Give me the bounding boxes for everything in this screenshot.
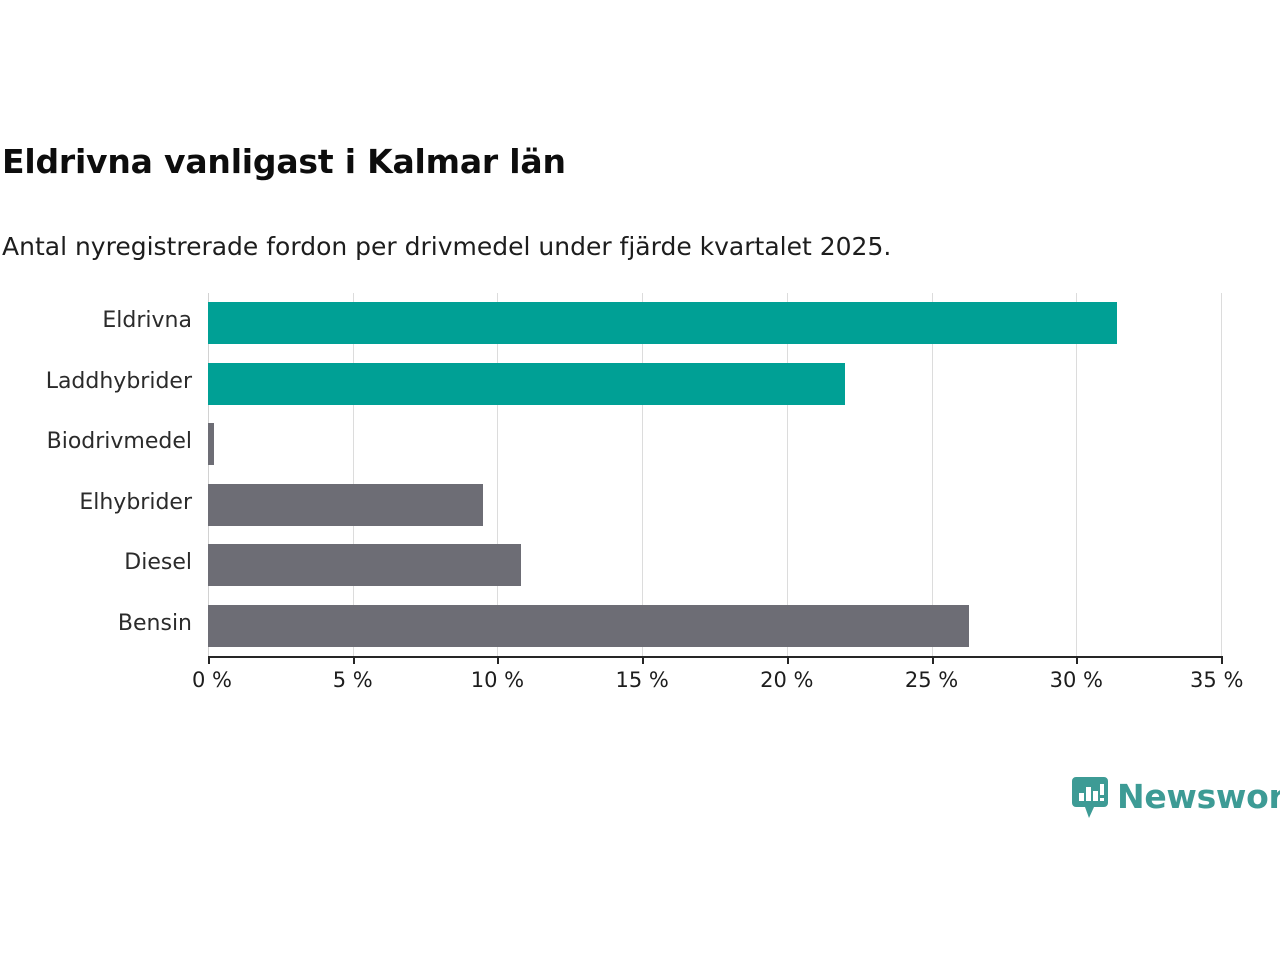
- x-tick-label-35: 35 %: [1190, 668, 1243, 692]
- bar-diesel[interactable]: [208, 544, 521, 586]
- x-tick-label-15: 15 %: [615, 668, 668, 692]
- x-tick-15: [642, 656, 644, 664]
- bar-series: [208, 293, 1221, 656]
- x-tick-label-30: 30 %: [1050, 668, 1103, 692]
- gridline-35: [1221, 293, 1222, 656]
- x-tick-label-0: 0 %: [192, 668, 232, 692]
- y-label-laddhybrider: Laddhybrider: [0, 369, 192, 394]
- x-tick-label-5: 5 %: [333, 668, 373, 692]
- bar-bensin[interactable]: [208, 605, 969, 647]
- y-label-diesel: Diesel: [0, 550, 192, 575]
- newsworthy-logo: Newsworthy: [1072, 775, 1280, 821]
- bar-biodrivmedel[interactable]: [208, 423, 214, 465]
- x-tick-25: [932, 656, 934, 664]
- bar-eldrivna[interactable]: [208, 302, 1117, 344]
- x-tick-0: [208, 656, 210, 664]
- x-tick-5: [353, 656, 355, 664]
- x-tick-30: [1076, 656, 1078, 664]
- x-tick-10: [497, 656, 499, 664]
- bar-row: [208, 423, 1221, 465]
- bar-row: [208, 484, 1221, 526]
- newsworthy-wordmark: Newsworthy: [1117, 780, 1280, 817]
- x-axis-line: [208, 656, 1222, 658]
- bar-row: [208, 605, 1221, 647]
- y-label-eldrivna: Eldrivna: [0, 308, 192, 333]
- y-label-elhybrider: Elhybrider: [0, 490, 192, 515]
- y-label-biodrivmedel: Biodrivmedel: [0, 429, 192, 454]
- bar-chart: EldrivnaLaddhybriderBiodrivmedelElhybrid…: [0, 0, 1280, 760]
- y-label-bensin: Bensin: [0, 611, 192, 636]
- bar-row: [208, 302, 1221, 344]
- x-tick-35: [1221, 656, 1223, 664]
- plot-area: [208, 293, 1221, 656]
- bar-laddhybrider[interactable]: [208, 363, 845, 405]
- y-axis-category-labels: EldrivnaLaddhybriderBiodrivmedelElhybrid…: [0, 293, 192, 656]
- bar-row: [208, 363, 1221, 405]
- x-tick-label-25: 25 %: [905, 668, 958, 692]
- bar-row: [208, 544, 1221, 586]
- bar-elhybrider[interactable]: [208, 484, 483, 526]
- x-tick-label-10: 10 %: [471, 668, 524, 692]
- x-tick-20: [787, 656, 789, 664]
- x-tick-label-20: 20 %: [760, 668, 813, 692]
- newsworthy-bar-chart-bubble-icon: [1072, 777, 1108, 819]
